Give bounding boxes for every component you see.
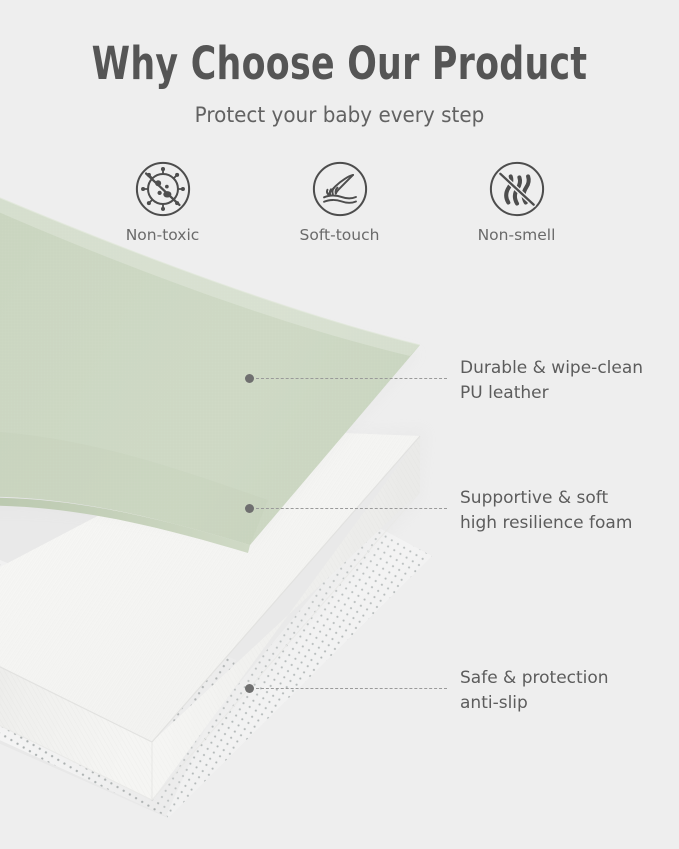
callout-line-1: Supportive & soft xyxy=(460,486,632,511)
feature-non-smell: Non-smell xyxy=(457,160,577,244)
feature-soft-touch: Soft-touch xyxy=(280,160,400,244)
hand-touch-fabric-icon xyxy=(311,160,369,218)
feature-non-toxic: Non-toxic xyxy=(103,160,223,244)
callout-label: Supportive & soft high resilience foam xyxy=(460,486,632,535)
callout-line-2: anti-slip xyxy=(460,691,609,716)
callout-dot xyxy=(245,684,254,693)
page-subtitle: Protect your baby every step xyxy=(17,90,662,128)
page-title: Why Choose Our Product xyxy=(48,0,632,90)
callout-leader-line xyxy=(256,508,447,509)
callout-label: Safe & protection anti-slip xyxy=(460,666,609,715)
callout-leader-line xyxy=(256,378,447,379)
feature-badges: Non-toxic xyxy=(0,160,679,244)
feature-label: Non-toxic xyxy=(126,226,200,244)
callout-line-2: PU leather xyxy=(460,381,643,406)
no-smell-icon xyxy=(488,160,546,218)
callout-label: Durable & wipe-clean PU leather xyxy=(460,356,643,405)
callout-leader-line xyxy=(256,688,447,689)
callout-dot xyxy=(245,504,254,513)
callout-line-2: high resilience foam xyxy=(460,511,632,536)
no-germs-icon xyxy=(134,160,192,218)
feature-label: Soft-touch xyxy=(300,226,380,244)
header: Why Choose Our Product Protect your baby… xyxy=(0,0,679,128)
product-infographic: Why Choose Our Product Protect your baby… xyxy=(0,0,679,849)
callout-line-1: Safe & protection xyxy=(460,666,609,691)
callout-dot xyxy=(245,374,254,383)
feature-label: Non-smell xyxy=(478,226,556,244)
callout-line-1: Durable & wipe-clean xyxy=(460,356,643,381)
